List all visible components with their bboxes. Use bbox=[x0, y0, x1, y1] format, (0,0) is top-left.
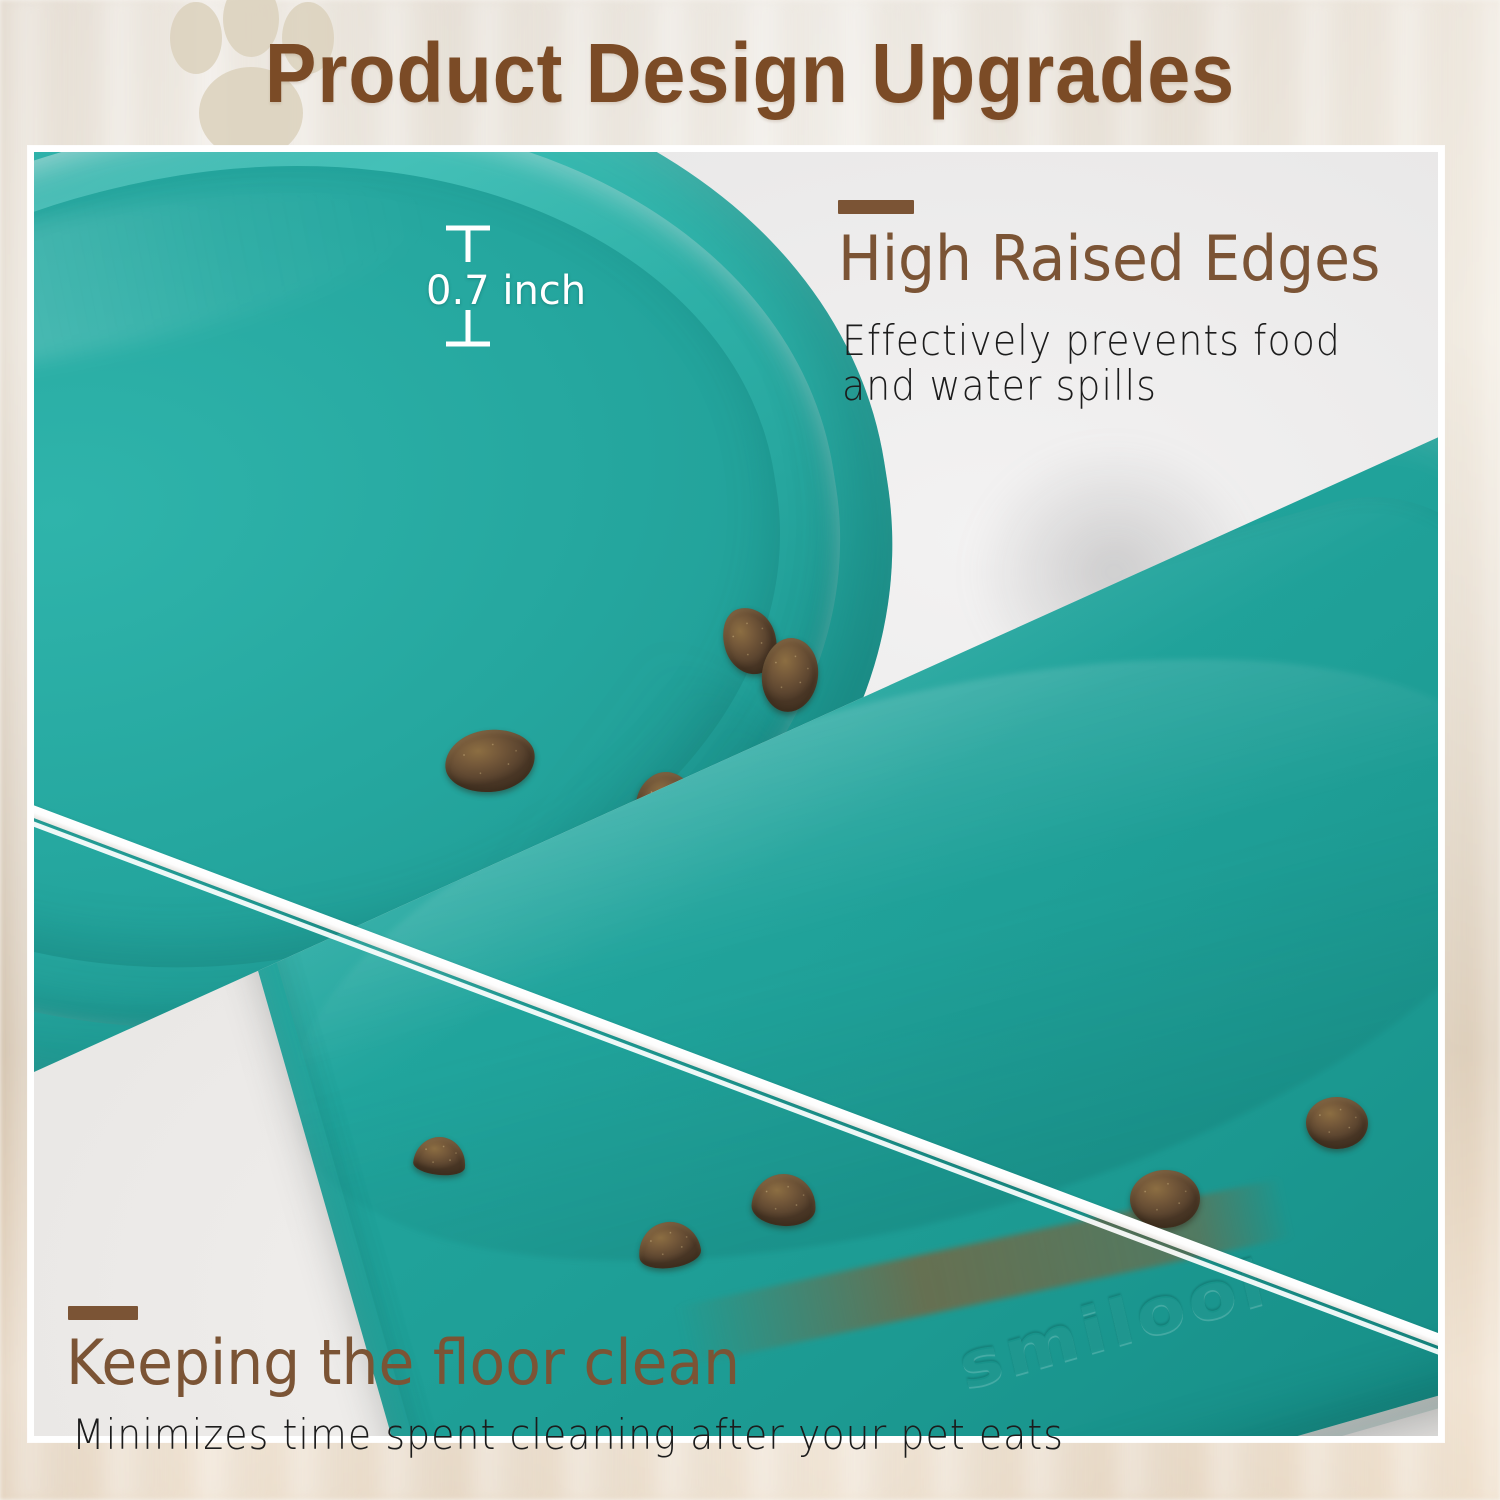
heading-high-raised-edges: High Raised Edges bbox=[838, 222, 1380, 295]
header-banner: Product Design Upgrades bbox=[0, 0, 1500, 146]
page-title: Product Design Upgrades bbox=[60, 0, 1440, 146]
subtext-high-raised-edges: Effectively prevents food and water spil… bbox=[842, 318, 1341, 409]
accent-bar-keeping-the-floor-clean bbox=[68, 1306, 138, 1320]
subtext-line-1: Minimizes time spent cleaning after your… bbox=[72, 1412, 1064, 1457]
dimension-callout: 0.7 inch bbox=[404, 222, 664, 352]
dimension-label: 0.7 inch bbox=[426, 268, 586, 314]
subtext-keeping-the-floor-clean: Minimizes time spent cleaning after your… bbox=[72, 1412, 1064, 1457]
accent-bar-high-raised-edges bbox=[838, 200, 914, 214]
heading-keeping-the-floor-clean: Keeping the floor clean bbox=[66, 1326, 740, 1399]
subtext-line-2: and water spills bbox=[842, 363, 1341, 408]
subtext-line-1: Effectively prevents food bbox=[842, 318, 1341, 363]
